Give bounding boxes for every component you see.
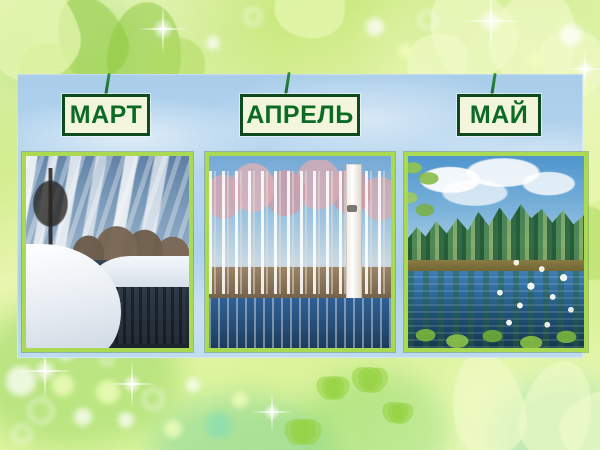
photo-march: [26, 156, 189, 348]
slide-canvas: МАРТ АПРЕЛЬ МАЙ: [0, 0, 600, 450]
photo-may: [408, 156, 584, 348]
month-label-april[interactable]: АПРЕЛЬ: [240, 94, 360, 136]
month-label-march[interactable]: МАРТ: [62, 94, 150, 136]
photo-frame-april[interactable]: [205, 152, 395, 352]
month-label-may[interactable]: МАЙ: [457, 94, 541, 136]
photo-april: [209, 156, 391, 348]
photo-frame-may[interactable]: [404, 152, 588, 352]
photo-frame-march[interactable]: [22, 152, 193, 352]
